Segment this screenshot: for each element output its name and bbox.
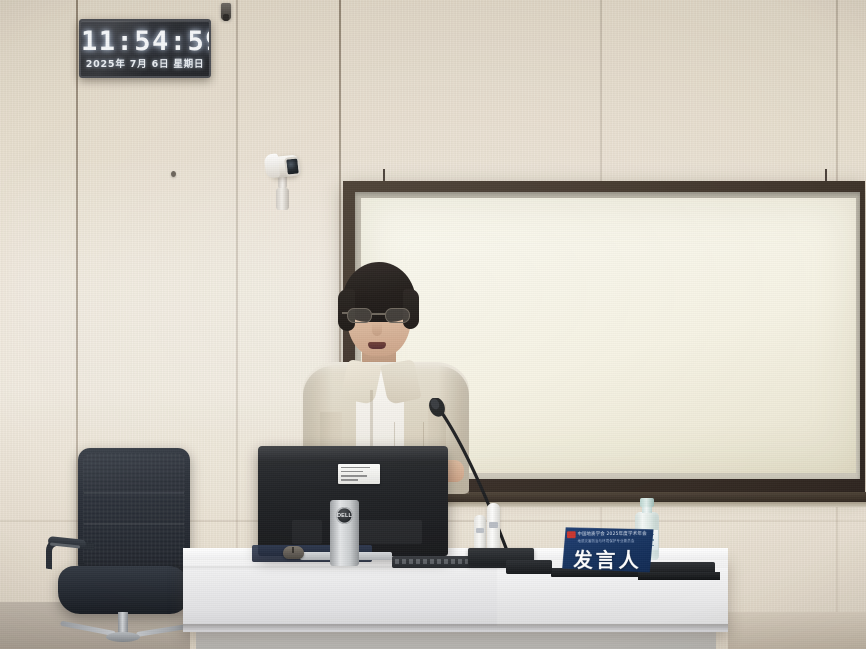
floor-right [728, 612, 866, 649]
dell-logo-icon: DELL [336, 507, 353, 524]
speaker-nameplate: 中国地质学会 2025年度学术年会 地质灾害防治与环境保护专业委员会 发言人 [562, 527, 653, 573]
monitor-vent [292, 520, 322, 544]
chair-seam [84, 523, 184, 525]
nameplate-organization: 中国地质学会 2025年度学术年会 [578, 531, 649, 537]
glasses-bridge [372, 313, 386, 315]
desk-under-shadow [183, 624, 728, 631]
wireless-transmitter[interactable] [487, 503, 500, 549]
clock-time: 11:54:59 [81, 26, 209, 57]
dell-logo-text: DELL [337, 513, 352, 519]
glasses-lens [385, 308, 410, 323]
person-mouth [368, 342, 386, 349]
chair-base-hub [106, 632, 140, 642]
wireless-transmitter[interactable] [474, 515, 486, 550]
conference-room-photo: 11:54:59 2025年 7月 6日 星期日 [0, 0, 866, 649]
computer-mouse[interactable] [283, 546, 304, 559]
equipment-tray-lower [638, 572, 720, 580]
bottle-neck [642, 506, 652, 513]
nameplate-role-title: 发言人 [562, 544, 653, 573]
nameplate-emblem-icon [567, 531, 576, 538]
glasses-lens [347, 308, 372, 323]
chair-mesh-texture [83, 453, 185, 568]
mouse-scroll-divider [292, 547, 294, 553]
camera-mount [276, 188, 289, 210]
nameplate-face: 中国地质学会 2025年度学术年会 地质灾害防治与环境保护专业委员会 发言人 [562, 527, 653, 573]
chair-seam [84, 492, 184, 494]
camera-lens-icon [284, 156, 301, 176]
wall-fixture-dot [171, 171, 176, 177]
glasses-arm [342, 312, 348, 314]
chair-backrest [78, 448, 190, 573]
microphone-base-lower [506, 560, 552, 574]
monitor-spec-label [338, 464, 380, 484]
screen-hanger [825, 169, 827, 181]
camera-sunshade [264, 153, 280, 178]
nameplate-subtitle: 地质灾害防治与环境保护专业委员会 [578, 538, 649, 543]
bottle-cap [640, 498, 654, 507]
person-nose [372, 322, 382, 336]
security-camera [262, 148, 306, 210]
monitor-stand: DELL [330, 500, 359, 566]
eyeglasses-icon [344, 308, 414, 324]
monitor-sheen [258, 446, 448, 462]
wall-mount-bracket [221, 3, 231, 20]
led-wall-clock: 11:54:59 2025年 7月 6日 星期日 [79, 19, 211, 78]
monitor-vent [358, 520, 422, 544]
chair-leg [136, 624, 188, 637]
screen-hanger [383, 169, 385, 181]
clock-date: 2025年 7月 6日 星期日 [81, 56, 209, 70]
